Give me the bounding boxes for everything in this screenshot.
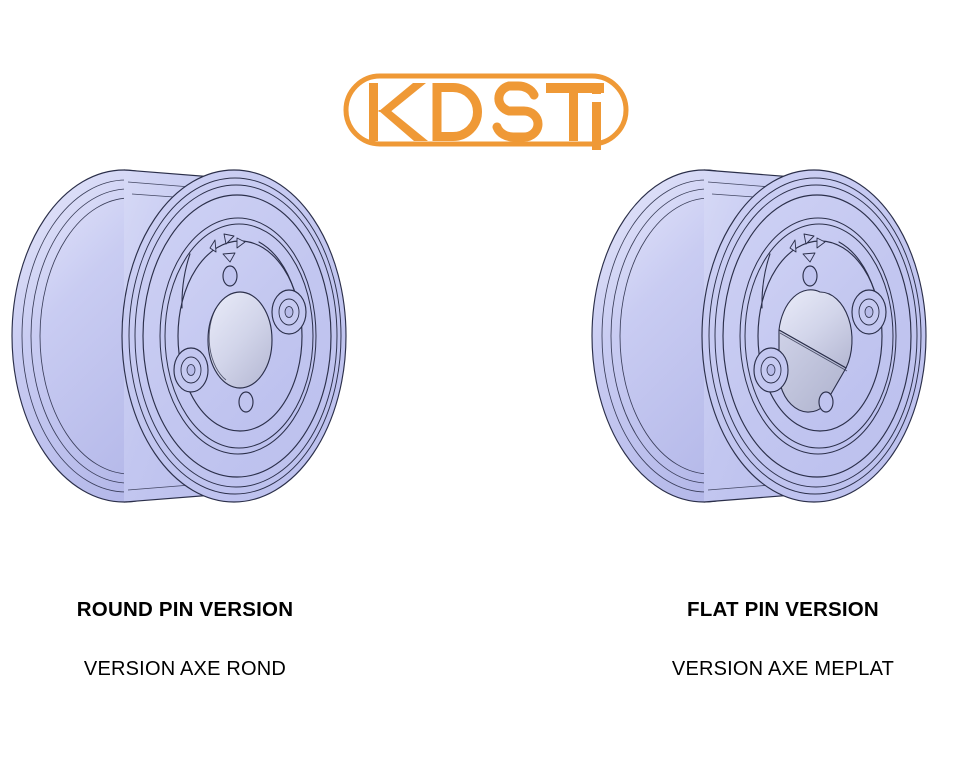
plain-hole-upper — [223, 266, 237, 286]
wheel-round-pin-illustration — [0, 140, 384, 550]
figure-round-pin — [0, 140, 384, 550]
caption-round-pin-subtitle: VERSION AXE ROND — [0, 622, 405, 681]
logo-letter-d — [437, 88, 478, 137]
bolt-hole-lower-left — [754, 348, 788, 392]
caption-round-pin-title: ROUND PIN VERSION — [0, 598, 405, 622]
logo-letter-s — [497, 86, 538, 137]
bolt-hole-upper-right — [852, 290, 886, 334]
figure-flat-pin — [574, 140, 961, 550]
plain-hole-lower — [819, 392, 833, 412]
bolt-hole-lower-left — [174, 348, 208, 392]
caption-flat-pin: FLAT PIN VERSION VERSION AXE MEPLAT — [563, 598, 961, 681]
plain-hole-lower — [239, 392, 253, 412]
page-root: ROUND PIN VERSION VERSION AXE ROND FLAT … — [0, 0, 961, 765]
axle-bore-round — [208, 292, 272, 388]
caption-flat-pin-subtitle: VERSION AXE MEPLAT — [563, 622, 961, 681]
plain-hole-upper — [803, 266, 817, 286]
logo-letter-k — [369, 83, 428, 141]
wheel-flat-pin-illustration — [574, 140, 961, 550]
bolt-hole-upper-right — [272, 290, 306, 334]
caption-round-pin: ROUND PIN VERSION VERSION AXE ROND — [0, 598, 405, 681]
caption-flat-pin-title: FLAT PIN VERSION — [563, 598, 961, 622]
